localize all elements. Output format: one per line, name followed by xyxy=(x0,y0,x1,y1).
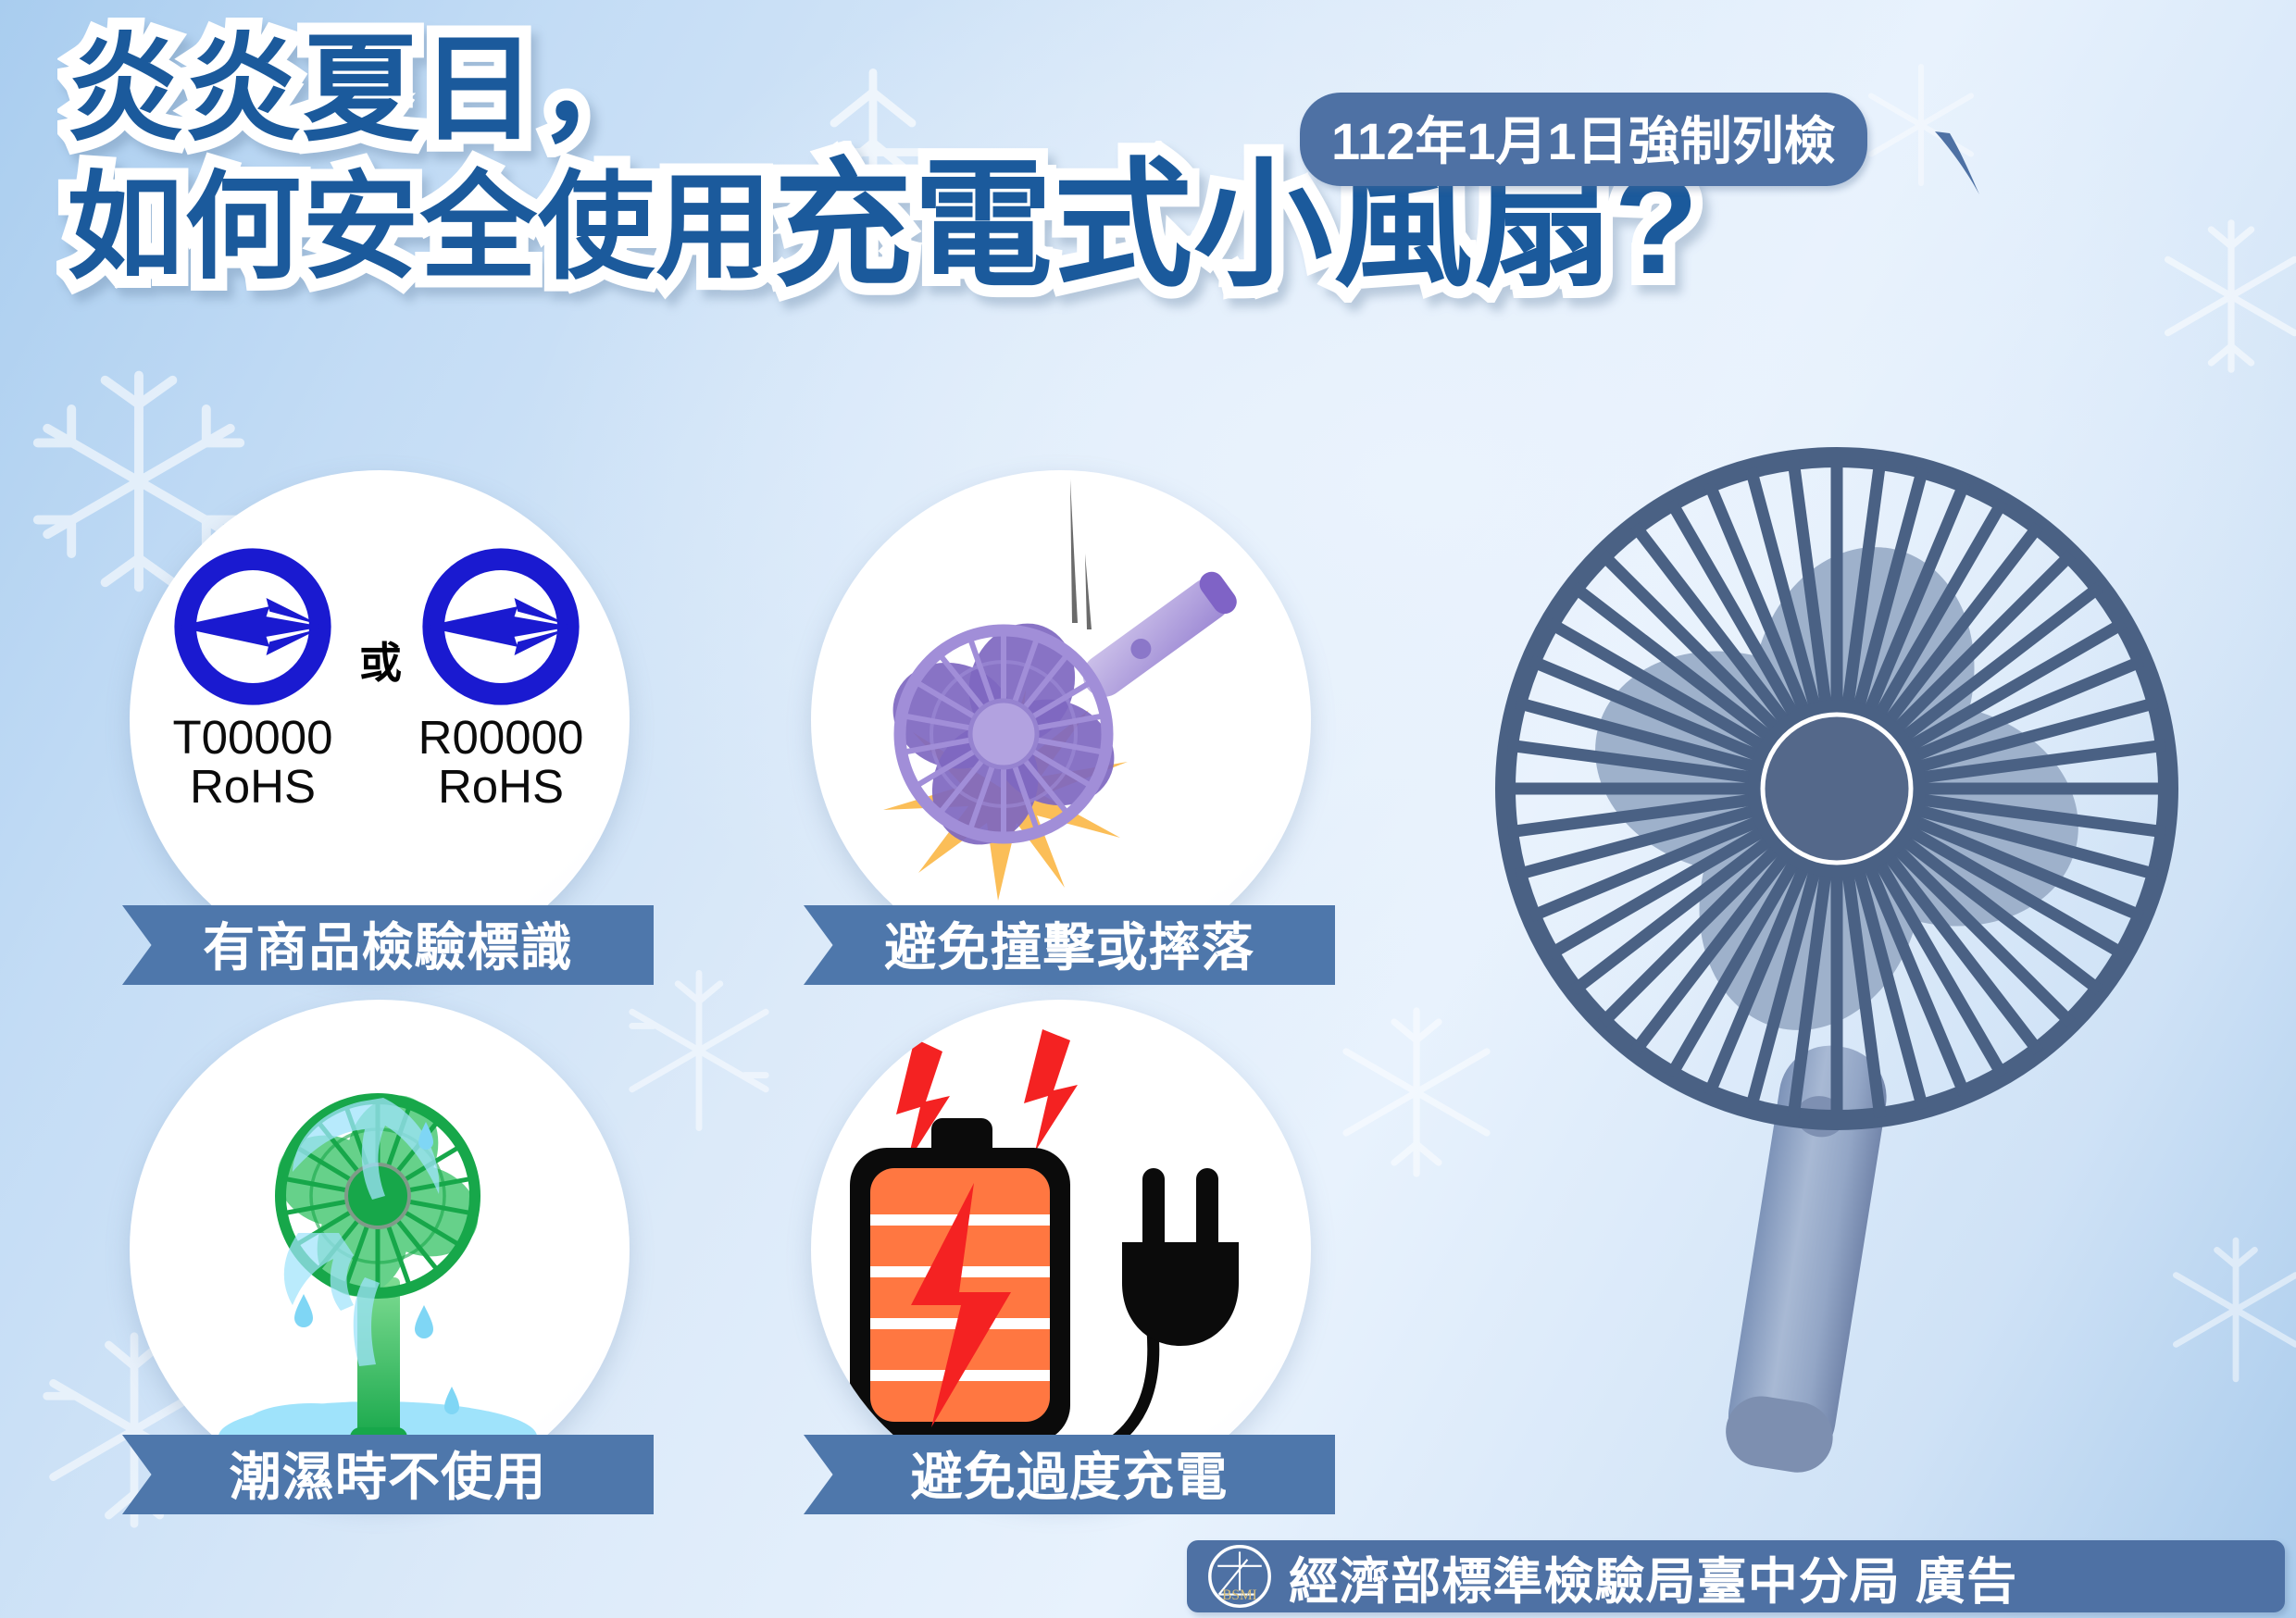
card-avoid-overcharge: 避免過度充電 xyxy=(811,1000,1329,1518)
card-disc: T00000 RoHS 或 R00000 RoHS xyxy=(130,470,630,970)
card-avoid-impact: 避免撞擊或摔落 xyxy=(811,470,1329,989)
ribbon-text: 避免過度充電 xyxy=(911,1436,1229,1511)
ribbon-text: 有商品檢驗標識 xyxy=(203,906,573,981)
falling-fan-impact-icon xyxy=(811,470,1311,970)
ribbon-text: 避免撞擊或摔落 xyxy=(884,906,1254,981)
svg-text:BSMI: BSMI xyxy=(1222,1587,1257,1603)
bsmi-inspection-mark-icon xyxy=(168,542,337,711)
card-disc xyxy=(130,1000,630,1500)
wet-fan-water-icon xyxy=(130,1000,630,1500)
hero-fan-illustration xyxy=(1463,435,2231,1537)
ribbon-label-inspection-mark: 有商品檢驗標識 xyxy=(122,905,654,985)
poster-root: 炎炎夏日， 如何安全使用充電式小風扇? 112年1月1日強制列檢 T00000 … xyxy=(0,0,2296,1618)
mark-left-rohs: RoHS xyxy=(148,762,357,811)
title-line-2-part1: 如何安全使用 xyxy=(67,162,774,292)
ribbon-label-no-wet-use: 潮濕時不使用 xyxy=(122,1435,654,1514)
card-disc xyxy=(811,1000,1311,1500)
card-inspection-mark: T00000 RoHS 或 R00000 RoHS 有商品檢驗標識 xyxy=(130,470,648,989)
card-disc xyxy=(811,470,1311,970)
badge-tail-icon xyxy=(1933,130,1983,198)
ribbon-label-avoid-impact: 避免撞擊或摔落 xyxy=(804,905,1335,985)
footer-text: 經濟部標準檢驗局臺中分局 廣告 xyxy=(1289,1540,2017,1613)
overcharging-battery-plug-icon xyxy=(811,1000,1311,1500)
card-no-wet-use: 潮濕時不使用 xyxy=(130,1000,648,1518)
mark-separator: 或 xyxy=(359,629,402,691)
status-badge: 112年1月1日強制列檢 xyxy=(1300,93,1867,186)
mark-right-rohs: RoHS xyxy=(396,762,605,811)
footer-bar: BSMI 經濟部標準檢驗局臺中分局 廣告 xyxy=(1187,1540,2285,1612)
mark-right-code: R00000 xyxy=(396,713,605,762)
handheld-electric-fan-icon xyxy=(1463,435,2231,1537)
mark-right-label: R00000 RoHS xyxy=(396,713,605,811)
bsmi-logo-icon: BSMI xyxy=(1207,1544,1272,1609)
bsmi-inspection-mark-icon xyxy=(417,542,585,711)
ribbon-text: 潮濕時不使用 xyxy=(230,1436,547,1511)
mark-left-code: T00000 xyxy=(148,713,357,762)
snowflake-icon xyxy=(2148,213,2296,380)
mark-left-label: T00000 RoHS xyxy=(148,713,357,811)
ribbon-label-avoid-overcharge: 避免過度充電 xyxy=(804,1435,1335,1514)
